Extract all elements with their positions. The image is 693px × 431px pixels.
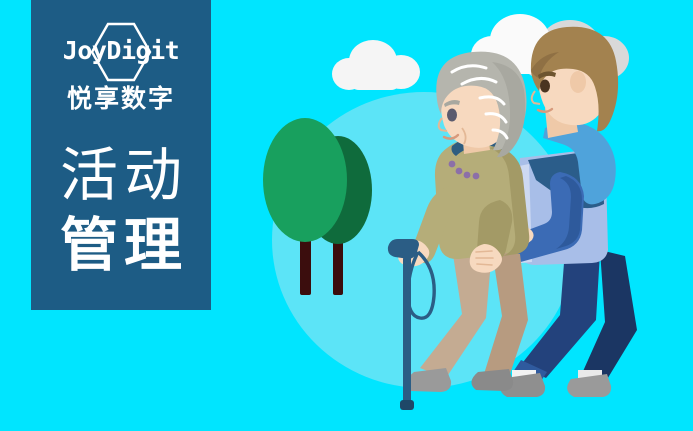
- poster-canvas: JoyDigit 悦享数字 活动 管理: [0, 0, 693, 431]
- page-title: 活动 管理: [54, 140, 188, 280]
- man-eye: [540, 80, 550, 93]
- brand-block: JoyDigit 悦享数字: [31, 0, 211, 126]
- logo-wordmark: JoyDigit: [45, 36, 197, 66]
- man-ear: [570, 71, 586, 93]
- brand-name-chinese: 悦享数字: [67, 84, 175, 114]
- woman-back-shoe: [471, 369, 513, 391]
- page-title-line-1: 活动: [54, 140, 188, 210]
- cane-tip: [400, 400, 414, 410]
- woman-eye: [447, 109, 457, 122]
- logo-mark: JoyDigit: [45, 22, 197, 82]
- page-title-line-2: 管理: [54, 210, 188, 280]
- side-panel: JoyDigit 悦享数字 活动 管理: [31, 0, 211, 310]
